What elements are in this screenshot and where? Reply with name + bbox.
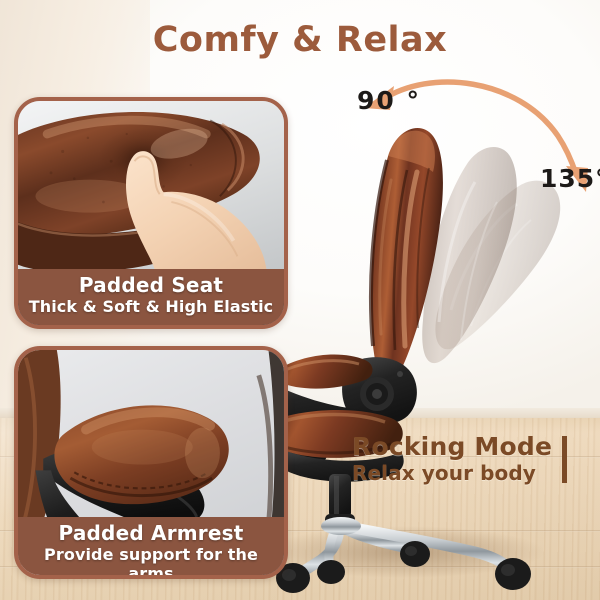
panel-caption-padded-seat: Padded Seat Thick & Soft & High Elastic	[18, 269, 284, 325]
inset-panel-padded-armrest: Padded Armrest Provide support for the a…	[14, 346, 288, 579]
panel-subtitle-padded-armrest: Provide support for the arms	[24, 545, 278, 579]
rocking-mode-subtitle: Relax your body	[352, 461, 552, 485]
angle-label-135: 135°	[540, 164, 600, 193]
angle-label-90: 90 °	[357, 86, 421, 115]
rocking-mode-accent-bar	[562, 436, 567, 483]
panel-title-padded-armrest: Padded Armrest	[24, 522, 278, 545]
page-title: Comfy & Relax	[0, 20, 600, 60]
panel-caption-padded-armrest: Padded Armrest Provide support for the a…	[18, 517, 284, 575]
rocking-mode-title: Rocking Mode	[352, 432, 552, 461]
panel-subtitle-padded-seat: Thick & Soft & High Elastic	[24, 297, 278, 316]
rocking-mode-callout: Rocking Mode Relax your body	[352, 432, 552, 485]
inset-panel-padded-seat: Padded Seat Thick & Soft & High Elastic	[14, 97, 288, 329]
panel-title-padded-seat: Padded Seat	[24, 274, 278, 297]
